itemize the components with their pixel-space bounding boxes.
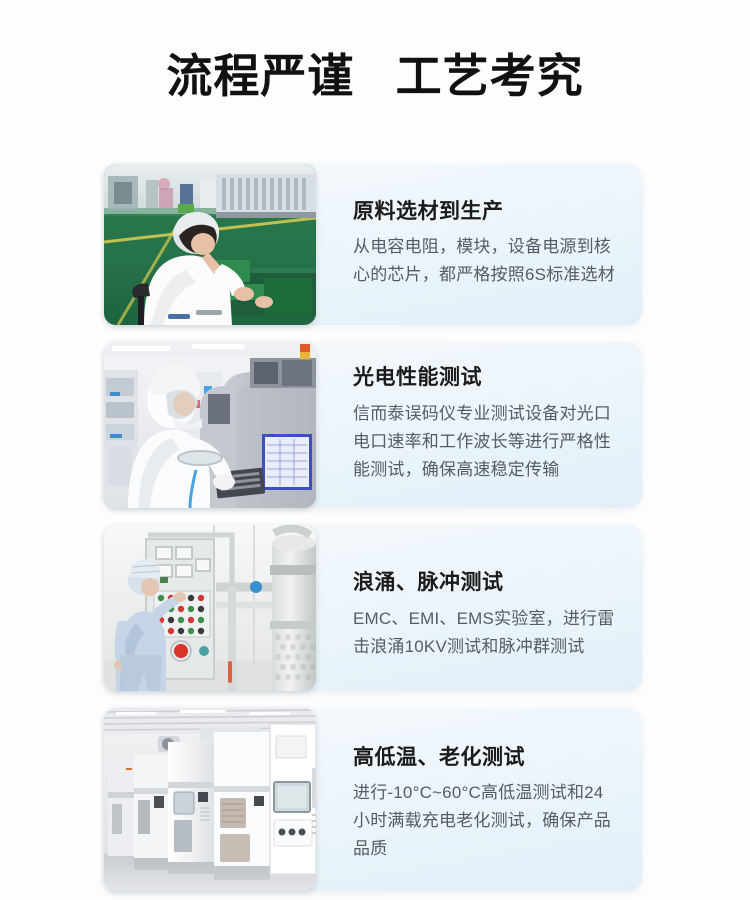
process-card-list: 原料选材到生产 从电容电阻，模块，设备电源到核心的芯片，都严格按照6S标准选材 <box>104 164 642 891</box>
card-text: 浪涌、脉冲测试 EMC、EMI、EMS实验室，进行雷击浪涌10KV测试和脉冲群测… <box>316 525 642 691</box>
card-text: 原料选材到生产 从电容电阻，模块，设备电源到核心的芯片，都严格按照6S标准选材 <box>316 164 642 325</box>
process-card[interactable]: 光电性能测试 信而泰误码仪专业测试设备对光口电口速率和工作波长等进行严格性能测试… <box>104 342 642 508</box>
process-card[interactable]: 高低温、老化测试 进行-10°C~60°C高低温测试和24小时满载充电老化测试，… <box>104 708 642 891</box>
card-heading: 高低温、老化测试 <box>353 746 620 771</box>
card-heading: 浪涌、脉冲测试 <box>353 571 620 596</box>
card-photo-aging-test <box>104 708 316 891</box>
card-photo-raw-material <box>104 164 316 325</box>
page-title: 流程严谨 工艺考究 <box>0 46 750 106</box>
card-photo-optical-test <box>104 342 316 508</box>
card-heading: 光电性能测试 <box>353 366 620 391</box>
card-description: 从电容电阻，模块，设备电源到核心的芯片，都严格按照6S标准选材 <box>353 233 620 289</box>
card-text: 光电性能测试 信而泰误码仪专业测试设备对光口电口速率和工作波长等进行严格性能测试… <box>316 342 642 508</box>
card-heading: 原料选材到生产 <box>353 200 620 225</box>
process-card[interactable]: 浪涌、脉冲测试 EMC、EMI、EMS实验室，进行雷击浪涌10KV测试和脉冲群测… <box>104 525 642 691</box>
card-description: 进行-10°C~60°C高低温测试和24小时满载充电老化测试，确保产品品质 <box>353 779 620 863</box>
card-description: EMC、EMI、EMS实验室，进行雷击浪涌10KV测试和脉冲群测试 <box>353 605 620 661</box>
process-card[interactable]: 原料选材到生产 从电容电阻，模块，设备电源到核心的芯片，都严格按照6S标准选材 <box>104 164 642 325</box>
card-photo-surge-test <box>104 525 316 691</box>
card-text: 高低温、老化测试 进行-10°C~60°C高低温测试和24小时满载充电老化测试，… <box>316 708 642 891</box>
card-description: 信而泰误码仪专业测试设备对光口电口速率和工作波长等进行严格性能测试，确保高速稳定… <box>353 400 620 484</box>
promo-page: 流程严谨 工艺考究 <box>0 0 750 900</box>
